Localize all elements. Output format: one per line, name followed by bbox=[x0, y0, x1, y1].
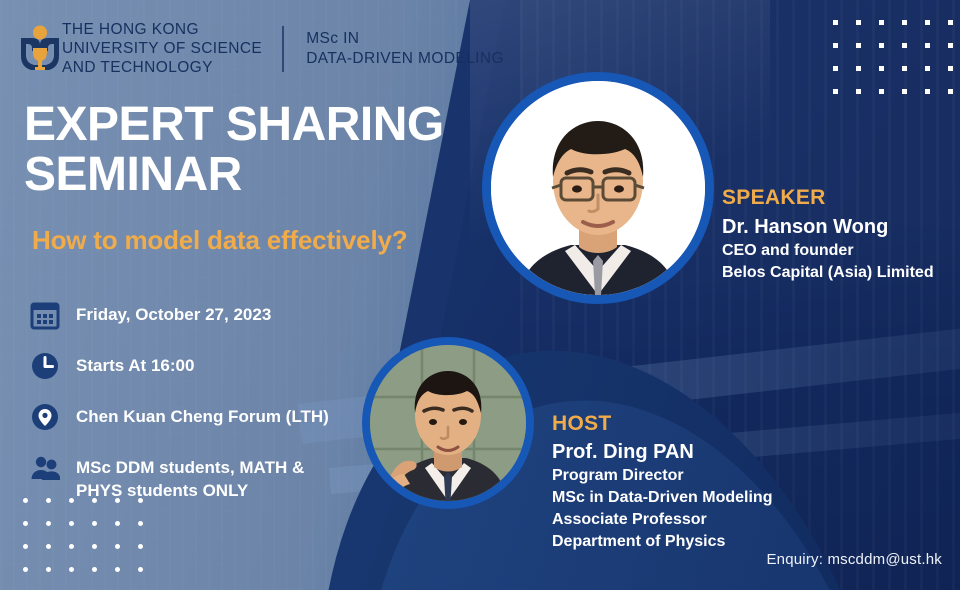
decorative-dot bbox=[833, 43, 838, 48]
hkust-shield-logo-icon bbox=[18, 24, 62, 74]
host-info: HOST Prof. Ding PAN Program Director MSc… bbox=[552, 412, 772, 553]
decorative-dot bbox=[833, 89, 838, 94]
decorative-dot bbox=[902, 89, 907, 94]
list-item-label: MSc DDM students, MATH & PHYS students O… bbox=[76, 453, 304, 502]
event-details-list: Friday, October 27, 2023 Starts At 16:00… bbox=[30, 300, 360, 523]
people-icon bbox=[30, 453, 60, 483]
decorative-dot bbox=[879, 43, 884, 48]
calendar-icon bbox=[30, 300, 60, 330]
host-avatar bbox=[362, 337, 534, 509]
decorative-dot bbox=[902, 43, 907, 48]
decorative-dot bbox=[948, 66, 953, 71]
decorative-dot bbox=[833, 66, 838, 71]
list-item-label: Chen Kuan Cheng Forum (LTH) bbox=[76, 402, 329, 428]
decorative-dot bbox=[138, 544, 143, 549]
decorative-dot bbox=[115, 567, 120, 572]
speaker-avatar bbox=[482, 72, 714, 304]
list-item-date: Friday, October 27, 2023 bbox=[30, 300, 360, 330]
decorative-dot bbox=[856, 20, 861, 25]
decorative-dot bbox=[856, 43, 861, 48]
decorative-dot bbox=[879, 89, 884, 94]
poster-header: THE HONG KONG UNIVERSITY OF SCIENCE AND … bbox=[18, 20, 504, 77]
decorative-dot bbox=[92, 567, 97, 572]
list-item-time: Starts At 16:00 bbox=[30, 351, 360, 381]
decorative-dot bbox=[925, 43, 930, 48]
decorative-dot bbox=[902, 20, 907, 25]
header-divider bbox=[282, 26, 284, 72]
host-line-3: Department of Physics bbox=[552, 531, 772, 553]
decorative-dot bbox=[138, 567, 143, 572]
decorative-dot bbox=[902, 66, 907, 71]
decorative-dot bbox=[879, 66, 884, 71]
host-portrait-illustration bbox=[370, 345, 526, 501]
decorative-dot bbox=[879, 20, 884, 25]
decorative-dot bbox=[948, 20, 953, 25]
list-item-label: Starts At 16:00 bbox=[76, 351, 194, 377]
event-poster: THE HONG KONG UNIVERSITY OF SCIENCE AND … bbox=[0, 0, 960, 590]
decorative-dot bbox=[69, 544, 74, 549]
host-line-2: Associate Professor bbox=[552, 509, 772, 531]
list-item-venue: Chen Kuan Cheng Forum (LTH) bbox=[30, 402, 360, 432]
decorative-dot bbox=[948, 43, 953, 48]
speaker-role-label: SPEAKER bbox=[722, 186, 934, 210]
decorative-dot bbox=[948, 89, 953, 94]
speaker-line-0: CEO and founder bbox=[722, 240, 934, 262]
decorative-dot bbox=[856, 66, 861, 71]
decorative-dot bbox=[23, 544, 28, 549]
program-name: MSc IN DATA-DRIVEN MODELING bbox=[306, 29, 504, 69]
speaker-portrait-illustration bbox=[491, 81, 705, 295]
speaker-name: Dr. Hanson Wong bbox=[722, 214, 934, 240]
list-item-audience: MSc DDM students, MATH & PHYS students O… bbox=[30, 453, 360, 502]
decorative-dot bbox=[69, 567, 74, 572]
host-name: Prof. Ding PAN bbox=[552, 439, 772, 465]
host-line-0: Program Director bbox=[552, 465, 772, 487]
dot-grid-top-right bbox=[833, 20, 953, 94]
decorative-dot bbox=[833, 20, 838, 25]
enquiry-text: Enquiry: mscddm@ust.hk bbox=[766, 551, 942, 568]
page-subtitle: How to model data effectively? bbox=[32, 225, 407, 256]
clock-icon bbox=[30, 351, 60, 381]
decorative-dot bbox=[115, 544, 120, 549]
host-line-1: MSc in Data-Driven Modeling bbox=[552, 487, 772, 509]
decorative-dot bbox=[46, 567, 51, 572]
decorative-dot bbox=[23, 498, 28, 503]
speaker-info: SPEAKER Dr. Hanson Wong CEO and founder … bbox=[722, 186, 934, 284]
location-pin-icon bbox=[30, 402, 60, 432]
decorative-dot bbox=[925, 66, 930, 71]
decorative-dot bbox=[856, 89, 861, 94]
list-item-label: Friday, October 27, 2023 bbox=[76, 300, 271, 326]
decorative-dot bbox=[46, 544, 51, 549]
decorative-dot bbox=[925, 20, 930, 25]
university-name: THE HONG KONG UNIVERSITY OF SCIENCE AND … bbox=[62, 20, 262, 77]
decorative-dot bbox=[23, 567, 28, 572]
decorative-dot bbox=[925, 89, 930, 94]
decorative-dot bbox=[92, 544, 97, 549]
speaker-line-1: Belos Capital (Asia) Limited bbox=[722, 262, 934, 284]
decorative-dot bbox=[23, 521, 28, 526]
host-role-label: HOST bbox=[552, 412, 772, 436]
page-title: EXPERT SHARING SEMINAR bbox=[24, 100, 444, 200]
